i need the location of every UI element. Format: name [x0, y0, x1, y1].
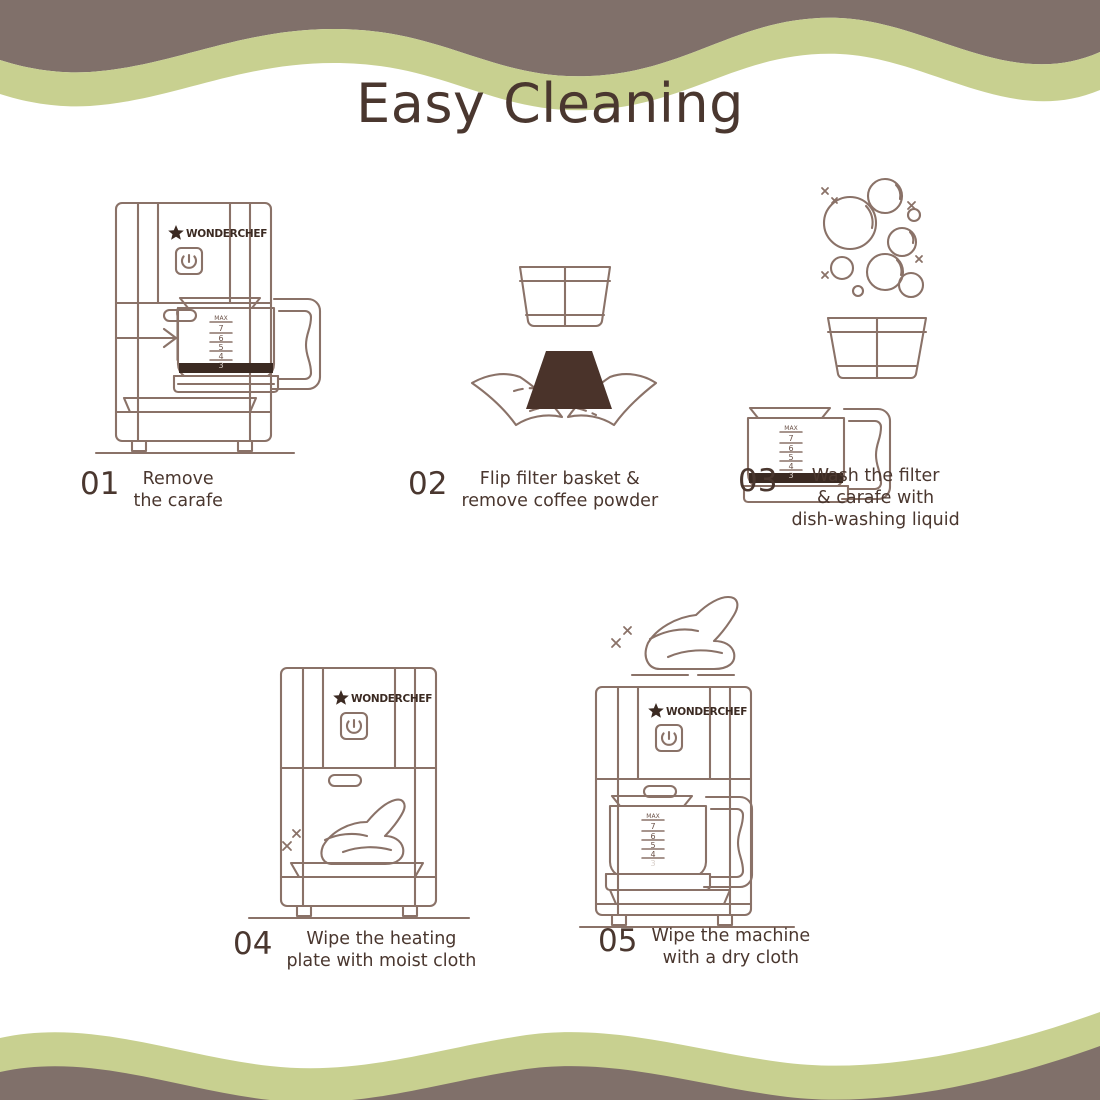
machine-04-foot-right: [403, 906, 417, 916]
bubbles-group: [824, 179, 923, 297]
step-05-caption: 05 Wipe the machine with a dry cloth: [598, 925, 810, 969]
machine-lid-handle: [164, 310, 196, 321]
carafe-handle-outer: [272, 299, 320, 389]
sparkle-05-2: [612, 639, 620, 647]
sparkle-04-1: [293, 830, 300, 837]
svg-text:5: 5: [788, 453, 793, 462]
sparkles-04-group: [283, 830, 300, 850]
bubble-small-left: [831, 257, 853, 279]
step-02: 02 Flip filter basket & remove coffee po…: [400, 185, 730, 535]
svg-text:7: 7: [218, 324, 223, 333]
step-05: MAX 7 6 5 4 3 WONDERCHEF 05 Wipe the mac…: [580, 595, 910, 995]
brand-logo-text: WONDERCHEF: [666, 706, 747, 718]
sparkle-05-1: [624, 627, 631, 634]
brand-logo-text: WONDERCHEF: [186, 228, 267, 240]
sparkle-04-2: [283, 842, 291, 850]
step-04-caption: 04 Wipe the heating plate with moist clo…: [233, 928, 476, 972]
step-05-illustration: MAX 7 6 5 4 3 WONDERCHEF: [580, 595, 910, 935]
bubble-large: [824, 197, 876, 249]
infographic-page: Easy Cleaning: [0, 0, 1100, 1100]
step-02-text: Flip filter basket & remove coffee powde…: [461, 468, 658, 512]
svg-text:5: 5: [650, 841, 655, 850]
power-icon-04: [347, 720, 361, 733]
carafe-05-base-ring: [606, 874, 710, 890]
carafe-coffee-fill: [179, 363, 273, 373]
carafe-handle-inner: [279, 311, 311, 379]
svg-text:MAX: MAX: [784, 425, 797, 432]
brand-logo-04: WONDERCHEF: [333, 690, 432, 705]
svg-text:3: 3: [218, 361, 223, 370]
step-02-caption: 02 Flip filter basket & remove coffee po…: [408, 468, 658, 512]
hand-wiping-outline: [321, 800, 404, 864]
machine-05-body-outline: [596, 687, 751, 915]
carafe-body-left-curve: [177, 308, 178, 360]
svg-text:6: 6: [788, 444, 793, 453]
sparkles-05-group: [612, 627, 631, 647]
svg-text:7: 7: [650, 822, 655, 831]
svg-text:6: 6: [218, 334, 223, 343]
step-03-caption: 03 Wash the filter & carafe with dish-wa…: [738, 465, 960, 531]
sparkle-4: [916, 256, 922, 262]
star-icon: [648, 703, 664, 718]
step-04-number: 04: [233, 928, 272, 961]
step-04-illustration: WONDERCHEF: [225, 650, 525, 930]
sparkle-5: [822, 272, 828, 278]
svg-text:4: 4: [650, 850, 655, 859]
step-02-illustration: [400, 185, 730, 465]
step-01-illustration: WONDERCHEF MAX 7 6 5 4 3: [60, 185, 400, 465]
svg-text:4: 4: [218, 352, 223, 361]
step-05-number: 05: [598, 925, 637, 958]
power-icon: [182, 255, 196, 268]
step-01-number: 01: [80, 468, 119, 501]
svg-text:MAX: MAX: [214, 315, 227, 322]
step-04-text: Wipe the heating plate with moist cloth: [286, 928, 476, 972]
sparkle-3: [908, 202, 915, 209]
step-01-caption: 01 Remove the carafe: [80, 468, 223, 512]
page-title: Easy Cleaning: [0, 72, 1100, 135]
brand-logo-text: WONDERCHEF: [351, 693, 432, 705]
direction-arrow: [116, 329, 176, 347]
step-03-number: 03: [738, 465, 777, 498]
bubble-tiny-lower: [853, 286, 863, 296]
step-04: WONDERCHEF 04 Wipe the heating plate wit…: [225, 650, 525, 990]
bottom-wave-decoration: [0, 1010, 1100, 1100]
step-01: WONDERCHEF MAX 7 6 5 4 3 01 Remove the c…: [60, 185, 400, 535]
bubble-medium-top: [868, 179, 902, 213]
machine-05-foot-right: [718, 915, 732, 925]
bubble-medium-right: [888, 228, 916, 256]
brand-logo-05: WONDERCHEF: [648, 703, 747, 718]
step-02-number: 02: [408, 468, 447, 501]
step-03-illustration: MAX 7 6 5 4 3: [730, 160, 1080, 460]
star-icon: [168, 225, 184, 240]
carafe-05-handle-inner: [711, 809, 743, 877]
svg-text:3: 3: [650, 859, 655, 868]
coffee-powder-mound: [526, 351, 612, 409]
carafe-05-handle-outer: [704, 797, 752, 887]
svg-text:6: 6: [650, 832, 655, 841]
step-05-text: Wipe the machine with a dry cloth: [651, 925, 810, 969]
step-03: MAX 7 6 5 4 3 03 Wash the filter & caraf…: [730, 160, 1080, 540]
power-icon-05: [662, 732, 676, 745]
step-03-text: Wash the filter & carafe with dish-washi…: [791, 465, 959, 531]
hand-05-outline: [646, 597, 738, 669]
star-icon: [333, 690, 349, 705]
step-01-text: Remove the carafe: [133, 468, 222, 512]
machine-04-foot-left: [297, 906, 311, 916]
machine-foot-left: [132, 441, 146, 451]
hand-05-finger-line: [668, 650, 722, 657]
svg-text:MAX: MAX: [646, 813, 659, 820]
bubble-tiny-upper: [908, 209, 920, 221]
sparkle-1: [822, 188, 828, 194]
brand-logo: WONDERCHEF: [168, 225, 267, 240]
machine-04-lid-handle: [329, 775, 361, 786]
svg-text:5: 5: [218, 343, 223, 352]
carafe-03-lid: [750, 408, 830, 418]
svg-text:7: 7: [788, 434, 793, 443]
machine-04-heating-plate: [291, 863, 423, 877]
machine-base-tray: [124, 398, 256, 412]
machine-05-base-tray: [610, 890, 730, 904]
machine-foot-right: [238, 441, 252, 451]
hand-finger-line: [343, 847, 391, 852]
bubble-small-right: [899, 273, 923, 297]
